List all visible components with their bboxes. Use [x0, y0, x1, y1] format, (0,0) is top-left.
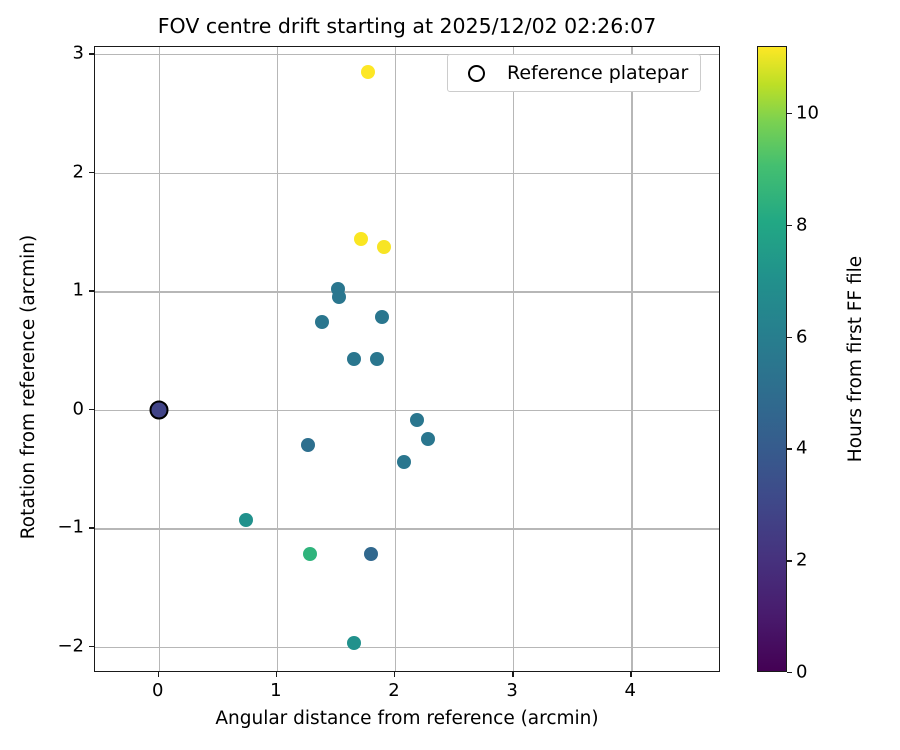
y-axis-tick-label: 0	[73, 398, 84, 419]
scatter-point	[332, 290, 346, 304]
plot-axes[interactable]	[94, 46, 720, 672]
colorbar-tick	[787, 560, 792, 561]
x-axis-tick-label: 1	[270, 680, 281, 701]
colorbar-tick	[787, 337, 792, 338]
x-axis-tick	[158, 672, 159, 677]
y-axis-tick-label: 2	[73, 161, 84, 182]
y-axis-tick	[89, 646, 94, 647]
x-axis-label: Angular distance from reference (arcmin)	[94, 708, 720, 729]
gridline-vertical	[159, 47, 160, 671]
x-axis-tick	[630, 672, 631, 677]
y-axis-tick	[89, 409, 94, 410]
colorbar-tick-label: 10	[796, 103, 819, 124]
plot-area	[95, 47, 719, 671]
reference-platepar-marker-icon	[468, 65, 485, 82]
y-axis-tick	[89, 290, 94, 291]
legend-entry-label: Reference platepar	[507, 62, 688, 84]
colorbar[interactable]	[757, 46, 787, 672]
reference-platepar-point	[149, 400, 168, 419]
scatter-point	[301, 438, 315, 452]
x-axis-tick-label: 3	[506, 680, 517, 701]
gridline-vertical	[631, 47, 632, 671]
x-axis-tick-label: 0	[152, 680, 163, 701]
scatter-point	[361, 65, 375, 79]
colorbar-tick	[787, 448, 792, 449]
colorbar-tick-label: 0	[796, 662, 807, 683]
scatter-point	[421, 432, 435, 446]
x-axis-tick-label: 4	[624, 680, 635, 701]
gridline-vertical	[395, 47, 396, 671]
scatter-point	[364, 547, 378, 561]
scatter-point	[375, 310, 389, 324]
colorbar-tick-label: 4	[796, 438, 807, 459]
gridline-vertical	[277, 47, 278, 671]
scatter-point	[239, 513, 253, 527]
y-axis-tick	[89, 172, 94, 173]
scatter-point	[370, 352, 384, 366]
x-axis-tick	[512, 672, 513, 677]
y-axis-tick-label: 3	[73, 43, 84, 64]
y-axis-tick-label: −1	[57, 517, 84, 538]
y-axis-tick-label: 1	[73, 280, 84, 301]
y-axis-label-text: Rotation from reference (arcmin)	[18, 207, 39, 567]
gridline-horizontal	[95, 647, 719, 648]
gridline-horizontal	[95, 410, 719, 411]
figure-canvas: FOV centre drift starting at 2025/12/02 …	[0, 0, 900, 750]
scatter-point	[315, 315, 329, 329]
scatter-point	[397, 455, 411, 469]
colorbar-gradient	[757, 46, 787, 672]
chart-title: FOV centre drift starting at 2025/12/02 …	[94, 14, 720, 38]
colorbar-tick-label: 8	[796, 214, 807, 235]
x-axis-tick-label: 2	[388, 680, 399, 701]
x-axis-tick	[276, 672, 277, 677]
gridline-horizontal	[95, 291, 719, 292]
colorbar-tick-label: 6	[796, 326, 807, 347]
colorbar-tick	[787, 672, 792, 673]
x-axis-tick	[394, 672, 395, 677]
colorbar-tick	[787, 113, 792, 114]
colorbar-tick-label: 2	[796, 550, 807, 571]
gridline-vertical	[513, 47, 514, 671]
scatter-point	[354, 232, 368, 246]
y-axis-tick	[89, 527, 94, 528]
gridline-horizontal	[95, 173, 719, 174]
colorbar-label-text: Hours from first FF file	[845, 199, 866, 519]
scatter-point	[303, 547, 317, 561]
scatter-point	[410, 413, 424, 427]
colorbar-tick	[787, 225, 792, 226]
legend-box[interactable]: Reference platepar	[447, 54, 701, 92]
y-axis-tick	[89, 53, 94, 54]
scatter-point	[347, 352, 361, 366]
gridline-horizontal	[95, 528, 719, 529]
scatter-point	[377, 240, 391, 254]
y-axis-tick-label: −2	[57, 635, 84, 656]
scatter-point	[347, 636, 361, 650]
